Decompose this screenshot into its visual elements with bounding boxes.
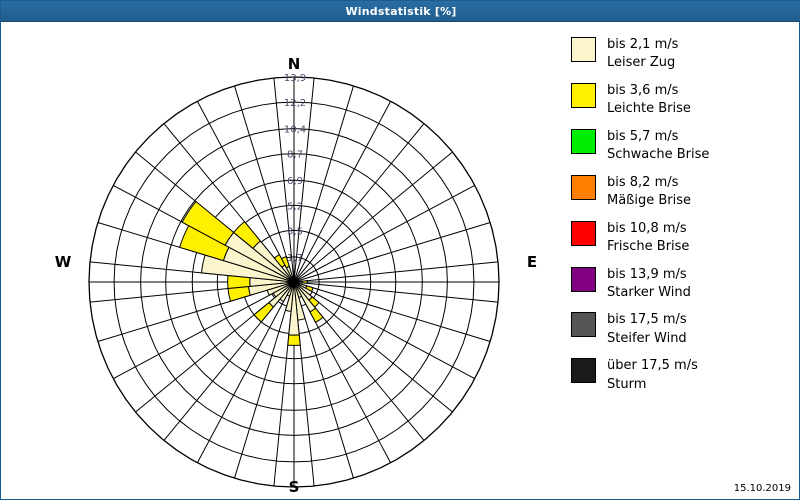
legend-color-swatch: [571, 358, 596, 383]
legend-description-label: Leichte Brise: [607, 100, 691, 118]
radial-tick-label: 8,7: [287, 150, 303, 161]
window-title: Windstatistik [%]: [345, 5, 456, 18]
legend-speed-label: bis 2,1 m/s: [607, 36, 678, 54]
legend-color-swatch: [571, 267, 596, 292]
legend-speed-label: bis 13,9 m/s: [607, 266, 691, 284]
windrose-chart: 1,73,55,26,98,710,412,213,9 N S W E: [1, 22, 566, 499]
legend-description-label: Steifer Wind: [607, 330, 687, 348]
radial-tick-label: 3,5: [287, 226, 303, 237]
legend-speed-label: bis 5,7 m/s: [607, 128, 709, 146]
legend-item[interactable]: bis 17,5 m/sSteifer Wind: [571, 311, 795, 348]
legend-color-swatch: [571, 312, 596, 337]
legend-speed-label: bis 10,8 m/s: [607, 220, 689, 238]
legend-label-group: bis 3,6 m/sLeichte Brise: [607, 82, 691, 119]
legend-label-group: bis 13,9 m/sStarker Wind: [607, 266, 691, 303]
legend-description-label: Mäßige Brise: [607, 192, 691, 210]
grid-spoke: [294, 152, 452, 282]
grid-spoke: [113, 282, 294, 379]
legend: bis 2,1 m/sLeiser Zugbis 3,6 m/sLeichte …: [571, 36, 795, 403]
legend-label-group: bis 5,7 m/sSchwache Brise: [607, 128, 709, 165]
compass-label-north: N: [288, 55, 301, 73]
legend-color-swatch: [571, 221, 596, 246]
legend-speed-label: über 17,5 m/s: [607, 357, 698, 375]
windrose-petal-segment: [288, 335, 300, 346]
radial-tick-label: 12,2: [284, 98, 306, 109]
windrose-petal-segment: [310, 308, 323, 322]
legend-description-label: Sturm: [607, 376, 698, 394]
radial-tick-label: 1,7: [287, 253, 303, 264]
windrose-petal-segment: [228, 286, 250, 301]
legend-label-group: bis 10,8 m/sFrische Brise: [607, 220, 689, 257]
legend-color-swatch: [571, 129, 596, 154]
compass-label-east: E: [527, 253, 537, 271]
grid-spoke: [294, 124, 424, 282]
radial-tick-label: 13,9: [284, 73, 306, 84]
date-stamp: 15.10.2019: [734, 483, 791, 494]
grid-spoke: [294, 101, 391, 282]
compass-label-south: S: [289, 478, 300, 496]
legend-color-swatch: [571, 83, 596, 108]
legend-item[interactable]: bis 10,8 m/sFrische Brise: [571, 220, 795, 257]
windrose-petal-segment: [302, 281, 307, 284]
grid-spoke: [197, 282, 294, 463]
radial-tick-label: 5,2: [287, 201, 303, 212]
legend-item[interactable]: bis 8,2 m/sMäßige Brise: [571, 174, 795, 211]
compass-label-west: W: [55, 253, 72, 271]
wind-statistics-window: Windstatistik [%] 1,73,55,26,98,710,412,…: [0, 0, 800, 500]
grid-spoke: [294, 222, 490, 282]
windrose-svg: 1,73,55,26,98,710,412,213,9 N S W E: [1, 22, 566, 499]
legend-label-group: bis 17,5 m/sSteifer Wind: [607, 311, 687, 348]
legend-speed-label: bis 3,6 m/s: [607, 82, 691, 100]
radial-tick-label: 6,9: [287, 176, 303, 187]
radial-tick-label: 10,4: [284, 125, 306, 136]
legend-item[interactable]: bis 5,7 m/sSchwache Brise: [571, 128, 795, 165]
window-content: 1,73,55,26,98,710,412,213,9 N S W E bis …: [1, 22, 799, 499]
grid-spoke: [294, 282, 475, 379]
legend-item[interactable]: über 17,5 m/sSturm: [571, 357, 795, 394]
grid-spoke: [294, 282, 490, 342]
legend-description-label: Schwache Brise: [607, 146, 709, 164]
radial-axis-labels: 1,73,55,26,98,710,412,213,9: [284, 73, 306, 264]
legend-color-swatch: [571, 37, 596, 62]
legend-description-label: Leiser Zug: [607, 54, 678, 72]
legend-description-label: Starker Wind: [607, 284, 691, 302]
legend-speed-label: bis 8,2 m/s: [607, 174, 691, 192]
window-titlebar: Windstatistik [%]: [1, 1, 800, 22]
legend-item[interactable]: bis 2,1 m/sLeiser Zug: [571, 36, 795, 73]
legend-label-group: bis 2,1 m/sLeiser Zug: [607, 36, 678, 73]
legend-item[interactable]: bis 13,9 m/sStarker Wind: [571, 266, 795, 303]
legend-label-group: bis 8,2 m/sMäßige Brise: [607, 174, 691, 211]
grid-spoke: [294, 185, 475, 282]
legend-color-swatch: [571, 175, 596, 200]
windrose-petal-segment: [254, 303, 273, 322]
legend-label-group: über 17,5 m/sSturm: [607, 357, 698, 394]
legend-description-label: Frische Brise: [607, 238, 689, 256]
legend-speed-label: bis 17,5 m/s: [607, 311, 687, 329]
legend-item[interactable]: bis 3,6 m/sLeichte Brise: [571, 82, 795, 119]
